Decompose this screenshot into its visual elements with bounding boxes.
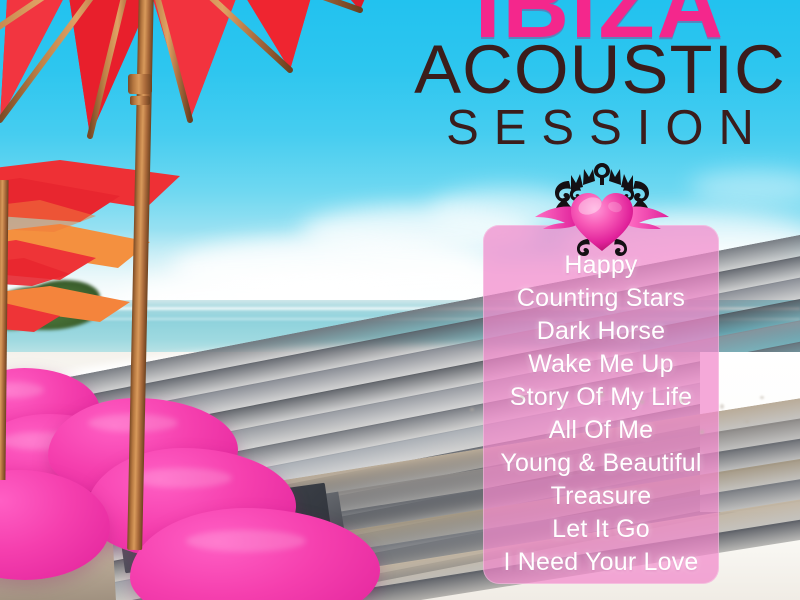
sand-speck [600, 392, 604, 397]
tracklist-panel: Happy Counting Stars Dark Horse Wake Me … [483, 225, 719, 584]
sand-speck [700, 430, 704, 434]
sand-speck [760, 396, 764, 399]
album-cover: Happy Counting Stars Dark Horse Wake Me … [0, 0, 800, 600]
umbrella-pole-ring [130, 96, 150, 105]
main-red-umbrella [0, 0, 450, 200]
track-item: Treasure [551, 480, 652, 513]
sand-speck [680, 398, 684, 403]
track-item: All Of Me [549, 414, 654, 447]
track-item: Let It Go [552, 513, 650, 546]
sand-speck [720, 404, 724, 409]
track-item: Wake Me Up [528, 348, 674, 381]
umbrella-pole-collar [128, 74, 152, 94]
sand-speck [560, 402, 564, 405]
track-item: Young & Beautiful [500, 447, 701, 480]
track-item: Story Of My Life [510, 381, 692, 414]
sand-speck [745, 420, 749, 423]
sand-speck [470, 408, 474, 411]
sand-speck [520, 395, 524, 400]
track-item: Dark Horse [537, 315, 665, 348]
sand-speck [640, 400, 644, 404]
track-item: I Need Your Love [503, 546, 698, 579]
track-item: Counting Stars [517, 282, 685, 315]
winged-heart-crown-emblem [527, 155, 677, 260]
